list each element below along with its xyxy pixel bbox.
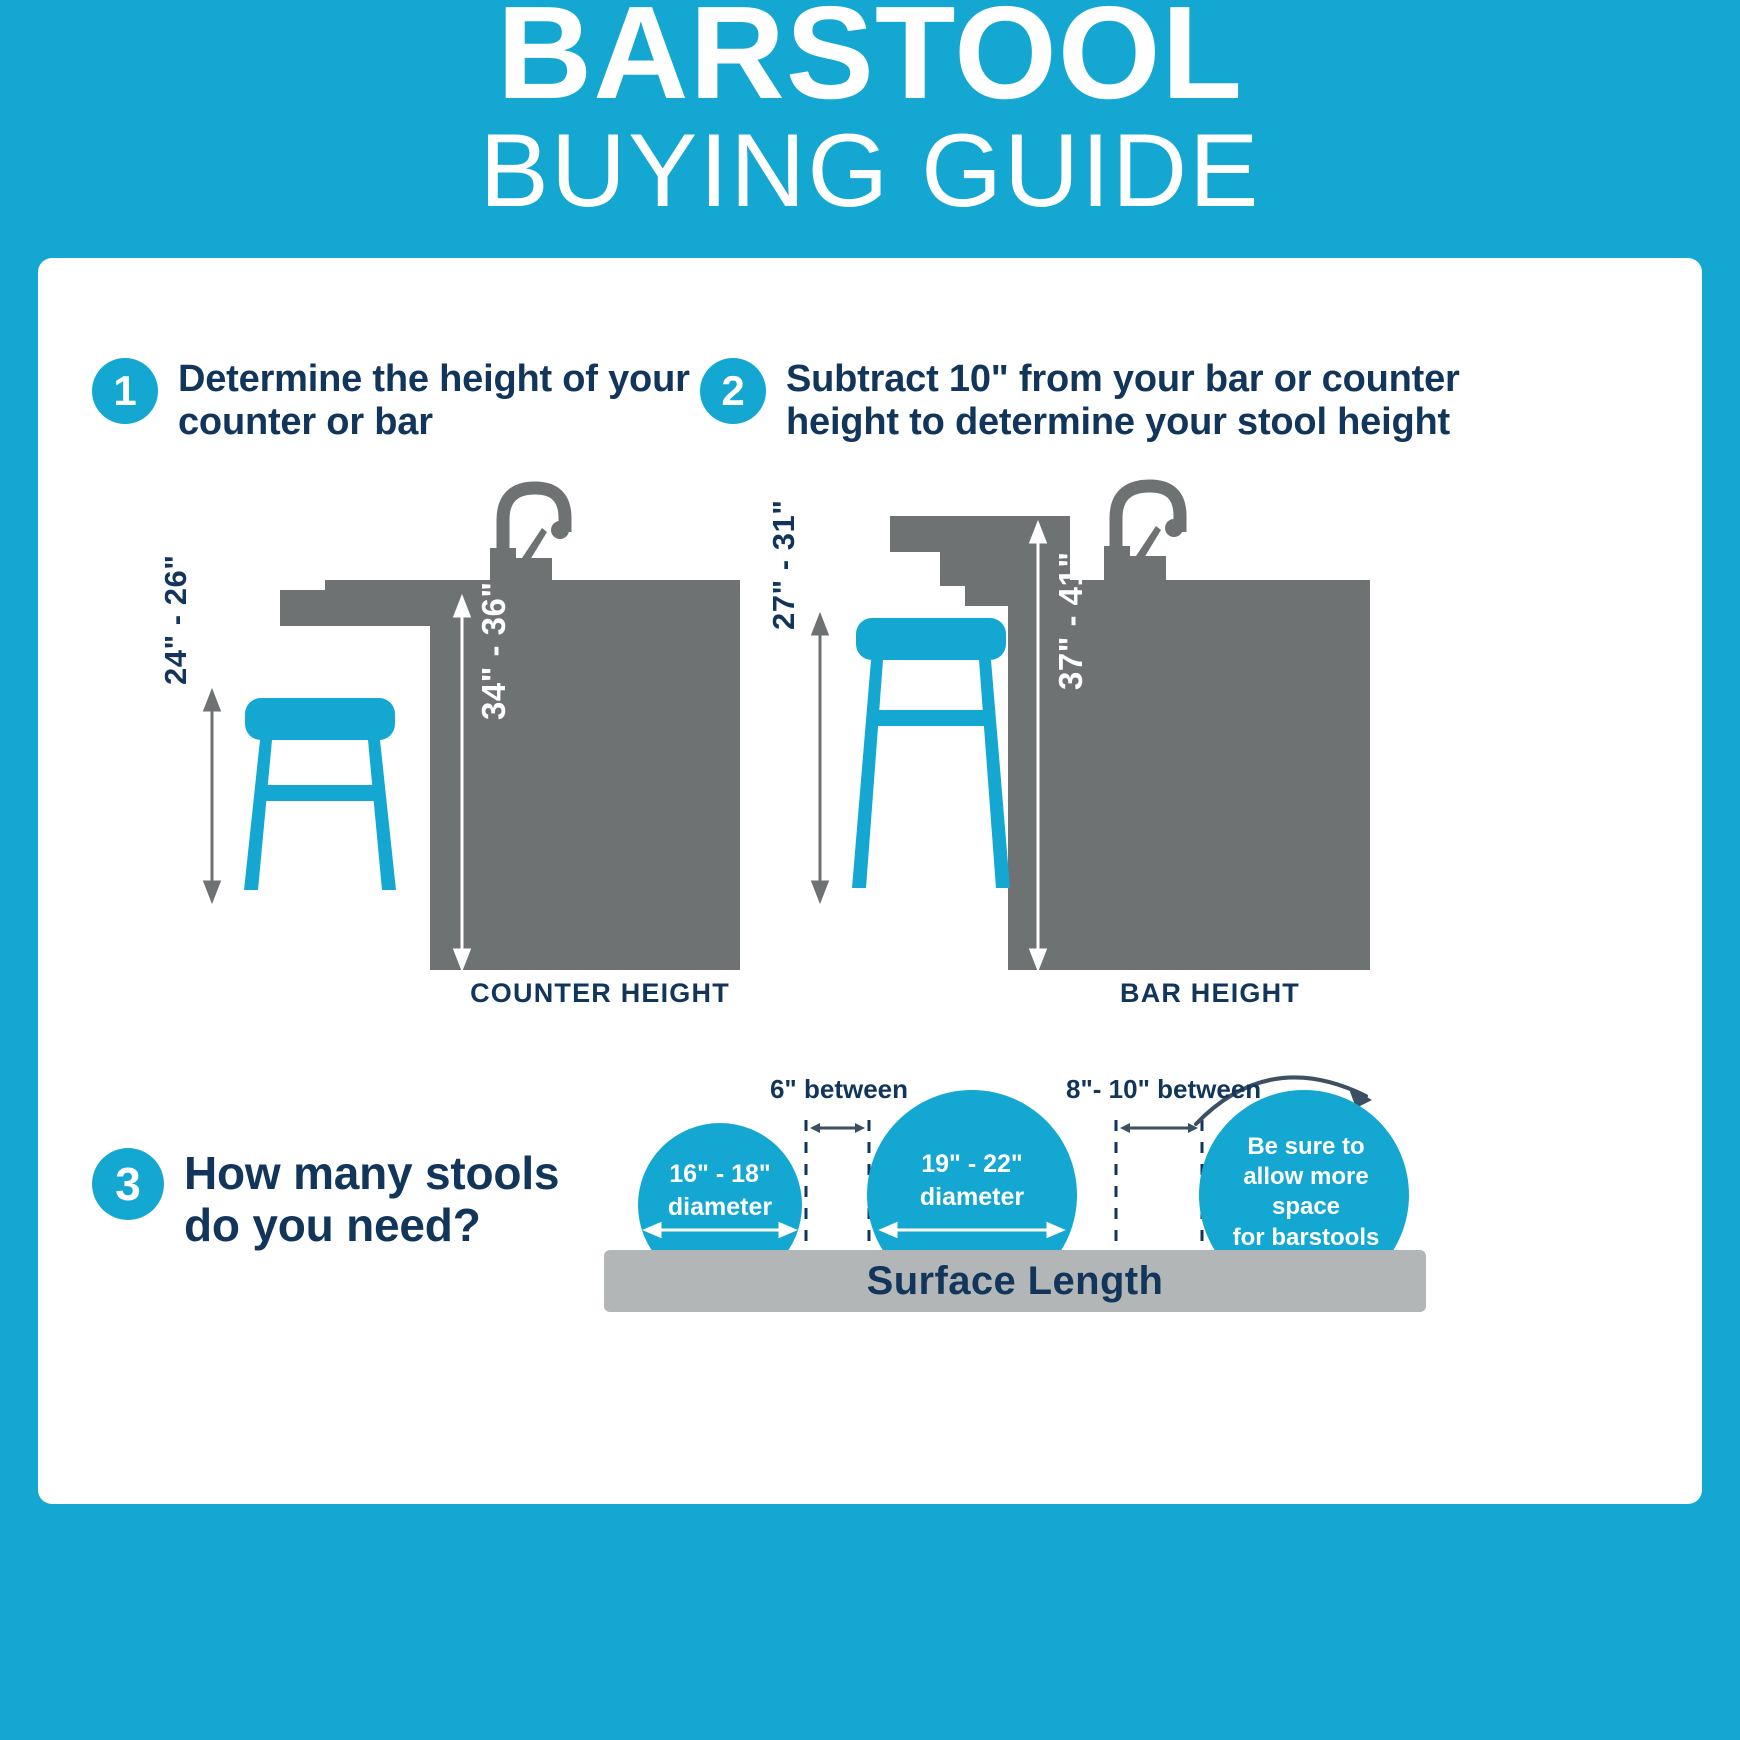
step-3-label: How many stools do you need? bbox=[184, 1148, 612, 1252]
bar-height-label: 37" - 41" bbox=[1052, 551, 1090, 690]
counter-stool-height-label: 24" - 26" bbox=[158, 555, 194, 685]
swivel-note-line-3: for barstools bbox=[1208, 1223, 1404, 1253]
step-2-badge: 2 bbox=[700, 358, 766, 424]
bar-stool-height-label: 27" - 31" bbox=[766, 500, 802, 630]
step-1: 1 Determine the height of your counter o… bbox=[92, 358, 692, 445]
step-1-label: Determine the height of your counter or … bbox=[178, 358, 692, 445]
infographic-page: BARSTOOL BUYING GUIDE 1 Determine the he… bbox=[0, 0, 1740, 1740]
step-2-label: Subtract 10" from your bar or counter he… bbox=[786, 358, 1530, 445]
stool-small-unit: diameter bbox=[640, 1191, 800, 1224]
stool-medium-unit: diameter bbox=[892, 1181, 1052, 1214]
step-3-badge: 3 bbox=[92, 1148, 164, 1220]
counter-height-caption: COUNTER HEIGHT bbox=[390, 978, 810, 1009]
stool-medium-diameter: 19" - 22" bbox=[892, 1148, 1052, 1181]
bar-stool-height-dimension bbox=[813, 616, 827, 900]
gap-1-label: 6" between bbox=[764, 1074, 914, 1105]
counter-height-diagram: 24" - 26" 34" - 36" bbox=[150, 470, 800, 970]
bar-stool-icon bbox=[852, 618, 1010, 888]
step-2: 2 Subtract 10" from your bar or counter … bbox=[700, 358, 1530, 445]
surface-length-label: Surface Length bbox=[867, 1259, 1164, 1304]
bar-height-diagram: 27" - 31" 37" - 41" bbox=[760, 470, 1440, 970]
stool-small-diameter: 16" - 18" bbox=[640, 1158, 800, 1191]
stool-spacing-diagram: 6" between 8"- 10" between 16" - 18" dia… bbox=[604, 1060, 1444, 1260]
stool-medium-label: 19" - 22" diameter bbox=[892, 1148, 1052, 1213]
counter-height-label: 34" - 36" bbox=[475, 581, 513, 720]
gap-1-indicator bbox=[806, 1120, 869, 1260]
page-title: BARSTOOL bbox=[497, 0, 1243, 113]
gap-2-label: 8"- 10" between bbox=[1066, 1074, 1256, 1105]
header: BARSTOOL BUYING GUIDE bbox=[0, 0, 1740, 250]
counter-stool-icon bbox=[244, 698, 396, 890]
step-3: 3 How many stools do you need? bbox=[92, 1148, 612, 1252]
swivel-note-line-1: Be sure to bbox=[1208, 1132, 1404, 1162]
step-1-badge: 1 bbox=[92, 358, 158, 424]
page-subtitle: BUYING GUIDE bbox=[480, 119, 1261, 223]
gap-2-indicator bbox=[1116, 1120, 1202, 1260]
bar-height-caption: BAR HEIGHT bbox=[1000, 978, 1420, 1009]
stool-small-label: 16" - 18" diameter bbox=[640, 1158, 800, 1223]
surface-length-bar: Surface Length bbox=[604, 1250, 1426, 1312]
swivel-note-line-2: allow more space bbox=[1208, 1162, 1404, 1222]
stool-height-dimension bbox=[205, 692, 219, 900]
